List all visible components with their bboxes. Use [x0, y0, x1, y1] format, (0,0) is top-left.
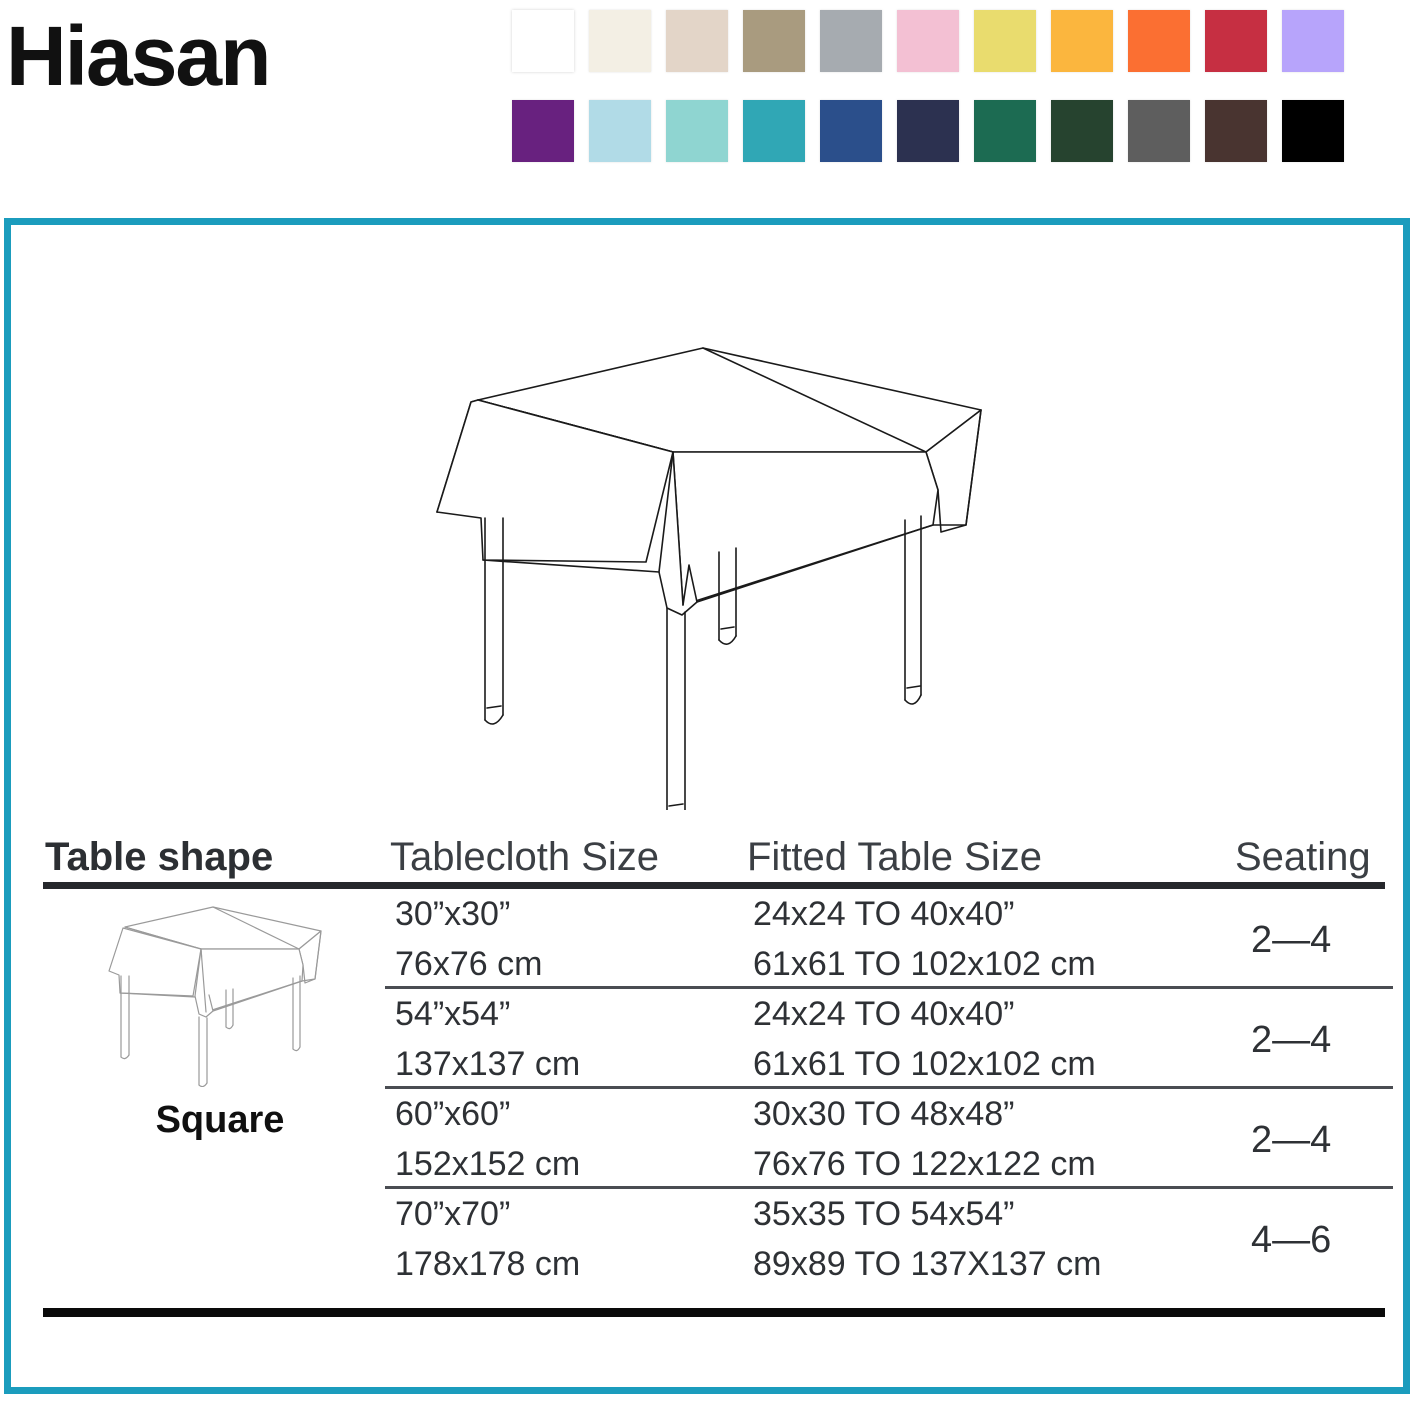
seating-count: 4—6	[1251, 1219, 1331, 1262]
table-row: 60”x60”152x152 cm30x30 TO 48x48”76x76 TO…	[385, 1089, 1393, 1189]
color-swatch-emerald[interactable]	[974, 100, 1036, 162]
fitted-size-inches: 24x24 TO 40x40”	[753, 895, 1014, 934]
seating-count: 2—4	[1251, 1119, 1331, 1162]
color-swatch-ivory[interactable]	[589, 10, 651, 72]
color-swatch-denim-blue[interactable]	[820, 100, 882, 162]
seating-count: 2—4	[1251, 1019, 1331, 1062]
color-swatch-black[interactable]	[1282, 100, 1344, 162]
cloth-size-inches: 70”x70”	[395, 1195, 510, 1234]
color-swatch-gray[interactable]	[820, 10, 882, 72]
cloth-size-inches: 30”x30”	[395, 895, 510, 934]
square-table-icon	[85, 897, 355, 1087]
fitted-size-inches: 24x24 TO 40x40”	[753, 995, 1014, 1034]
color-swatch-purple[interactable]	[512, 100, 574, 162]
cloth-size-inches: 60”x60”	[395, 1095, 510, 1134]
color-swatch-navy[interactable]	[897, 100, 959, 162]
cloth-size-cm: 137x137 cm	[395, 1045, 580, 1084]
header-band: Hiasan	[0, 0, 1416, 200]
color-swatch-brown[interactable]	[1205, 100, 1267, 162]
table-row: 30”x30”76x76 cm24x24 TO 40x40”61x61 TO 1…	[385, 889, 1393, 989]
header-divider	[43, 882, 1385, 889]
size-table-header-row: Table shape Tablecloth Size Fitted Table…	[35, 810, 1393, 882]
color-swatch-red[interactable]	[1205, 10, 1267, 72]
fitted-size-cm: 61x61 TO 102x102 cm	[753, 1045, 1096, 1084]
color-swatch-light-blue[interactable]	[589, 100, 651, 162]
color-swatch-pink[interactable]	[897, 10, 959, 72]
color-swatch-charcoal[interactable]	[1128, 100, 1190, 162]
color-swatch-yellow[interactable]	[974, 10, 1036, 72]
column-header-fitted-size: Fitted Table Size	[747, 835, 1042, 880]
color-swatch-beige[interactable]	[666, 10, 728, 72]
fitted-size-cm: 76x76 TO 122x122 cm	[753, 1145, 1096, 1184]
square-tablecloth-illustration	[421, 340, 1001, 810]
fitted-size-cm: 89x89 TO 137X137 cm	[753, 1245, 1101, 1284]
color-swatch-row-1	[512, 10, 1412, 72]
cloth-size-cm: 152x152 cm	[395, 1145, 580, 1184]
column-header-cloth-size: Tablecloth Size	[390, 835, 659, 880]
cloth-size-cm: 178x178 cm	[395, 1245, 580, 1284]
size-table-body: Square 30”x30”76x76 cm24x24 TO 40x40”61x…	[35, 889, 1393, 1289]
brand-logo: Hiasan	[6, 14, 269, 98]
color-swatch-taupe[interactable]	[743, 10, 805, 72]
color-swatch-white[interactable]	[512, 10, 574, 72]
table-bottom-rule	[43, 1308, 1385, 1317]
color-swatch-lavender[interactable]	[1282, 10, 1344, 72]
table-row: 54”x54”137x137 cm24x24 TO 40x40”61x61 TO…	[385, 989, 1393, 1089]
column-header-table-shape: Table shape	[45, 835, 273, 880]
color-swatch-teal[interactable]	[743, 100, 805, 162]
cloth-size-cm: 76x76 cm	[395, 945, 542, 984]
table-row: 70”x70”178x178 cm35x35 TO 54x54”89x89 TO…	[385, 1189, 1393, 1289]
fitted-size-inches: 30x30 TO 48x48”	[753, 1095, 1014, 1134]
fitted-size-inches: 35x35 TO 54x54”	[753, 1195, 1014, 1234]
shape-label: Square	[65, 1099, 375, 1142]
cloth-size-inches: 54”x54”	[395, 995, 510, 1034]
color-swatch-orange[interactable]	[1128, 10, 1190, 72]
seating-count: 2—4	[1251, 919, 1331, 962]
column-header-seating: Seating	[1235, 835, 1371, 880]
color-swatch-gold[interactable]	[1051, 10, 1113, 72]
fitted-size-cm: 61x61 TO 102x102 cm	[753, 945, 1096, 984]
color-swatch-hunter-green[interactable]	[1051, 100, 1113, 162]
color-swatch-grid	[512, 10, 1412, 190]
product-infographic: Hiasan	[0, 0, 1416, 1402]
color-swatch-aqua[interactable]	[666, 100, 728, 162]
size-guide-panel: Table shape Tablecloth Size Fitted Table…	[4, 218, 1410, 1394]
shape-cell: Square	[65, 897, 375, 1142]
size-table: Table shape Tablecloth Size Fitted Table…	[35, 810, 1393, 1377]
size-rows: 30”x30”76x76 cm24x24 TO 40x40”61x61 TO 1…	[385, 889, 1393, 1289]
color-swatch-row-2	[512, 100, 1412, 162]
